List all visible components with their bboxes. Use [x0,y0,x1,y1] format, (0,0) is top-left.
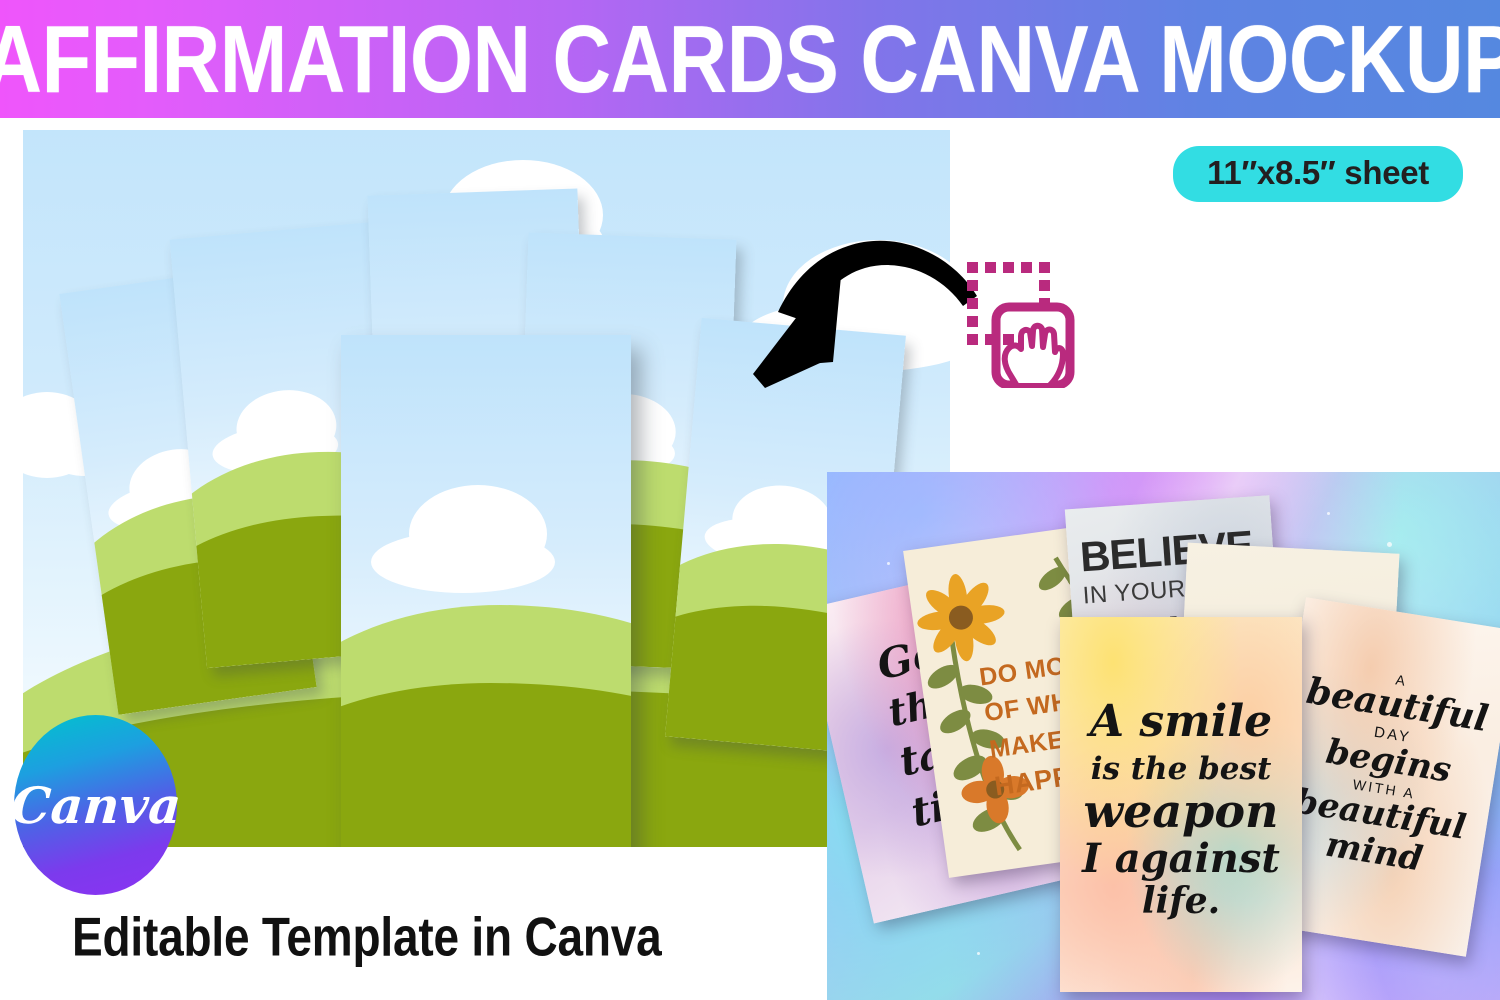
status-badge-sheet-size: 11″x8.5″ sheet [1173,146,1463,202]
sparkle [1387,542,1392,547]
affirmation-card-smile[interactable]: A smile is the best weapon I against lif… [1060,617,1302,992]
page-title: AFFIRMATION CARDS CANVA MOCKUP [0,11,1500,106]
header-banner: AFFIRMATION CARDS CANVA MOCKUP [0,0,1500,118]
sparkle [977,952,980,955]
sparkle [887,562,890,565]
affirmation-cards-panel: Good things take time [827,472,1500,1000]
drag-drop-icon [963,258,1083,388]
card-line: life. [1068,882,1294,920]
card-line: A smile [1068,699,1294,746]
blank-card-front[interactable] [341,335,631,847]
card-line: is the best [1068,752,1294,786]
footer-caption: Editable Template in Canva [72,905,662,969]
canva-logo: Canva [14,715,177,895]
card-line: weapon [1068,788,1294,836]
sparkle [1327,512,1330,515]
card-line: I against [1068,838,1294,880]
canva-wordmark: Canva [8,776,182,835]
drag-drop-icon-group: Drag & Drop [963,258,1225,388]
